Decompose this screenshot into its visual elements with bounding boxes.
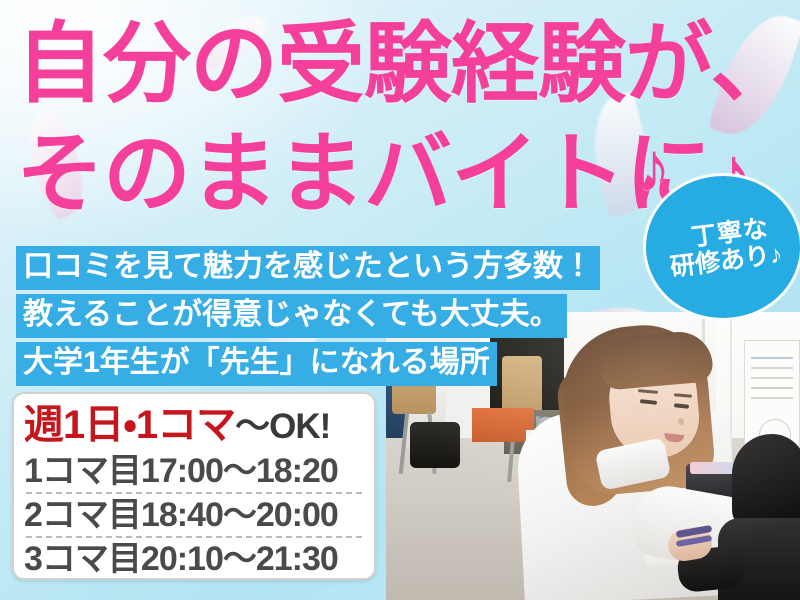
highlight-bar: 大学1年生が「先生」になれる場所 xyxy=(16,342,497,386)
highlight-bars: 口コミを見て魅力を感じたという方多数！ 教えることが得意じゃなくても大丈夫。 大… xyxy=(16,246,600,390)
recruitment-banner: 自分の受験経験が、 そのままバイトに♪ ♪ 丁寧な 研修あり♪ 口コミを見て魅力… xyxy=(0,0,800,600)
schedule-title-suffix: 〜OK! xyxy=(235,407,330,446)
highlight-bar: 教えることが得意じゃなくても大丈夫。 xyxy=(16,294,567,338)
schedule-card: 週1日・1コマ〜OK! 1コマ目17:00〜18:20 2コマ目18:40〜20… xyxy=(12,392,376,580)
schedule-slot-1: 1コマ目17:00〜18:20 xyxy=(24,450,364,492)
schedule-slot-3: 3コマ目20:10〜21:30 xyxy=(24,538,364,580)
schedule-slot-2: 2コマ目18:40〜20:00 xyxy=(24,494,364,536)
badge-line-2: 研修あり♪ xyxy=(668,240,783,282)
schedule-title-highlight: 週1日・1コマ xyxy=(24,403,235,447)
headline-line-2-text: そのままバイトに xyxy=(16,124,712,223)
schedule-title: 週1日・1コマ〜OK! xyxy=(24,402,364,450)
highlight-bar: 口コミを見て魅力を感じたという方多数！ xyxy=(16,246,600,290)
music-note-icon: ♪ xyxy=(636,132,671,202)
headline-line-1: 自分の受験経験が、 xyxy=(16,16,797,112)
